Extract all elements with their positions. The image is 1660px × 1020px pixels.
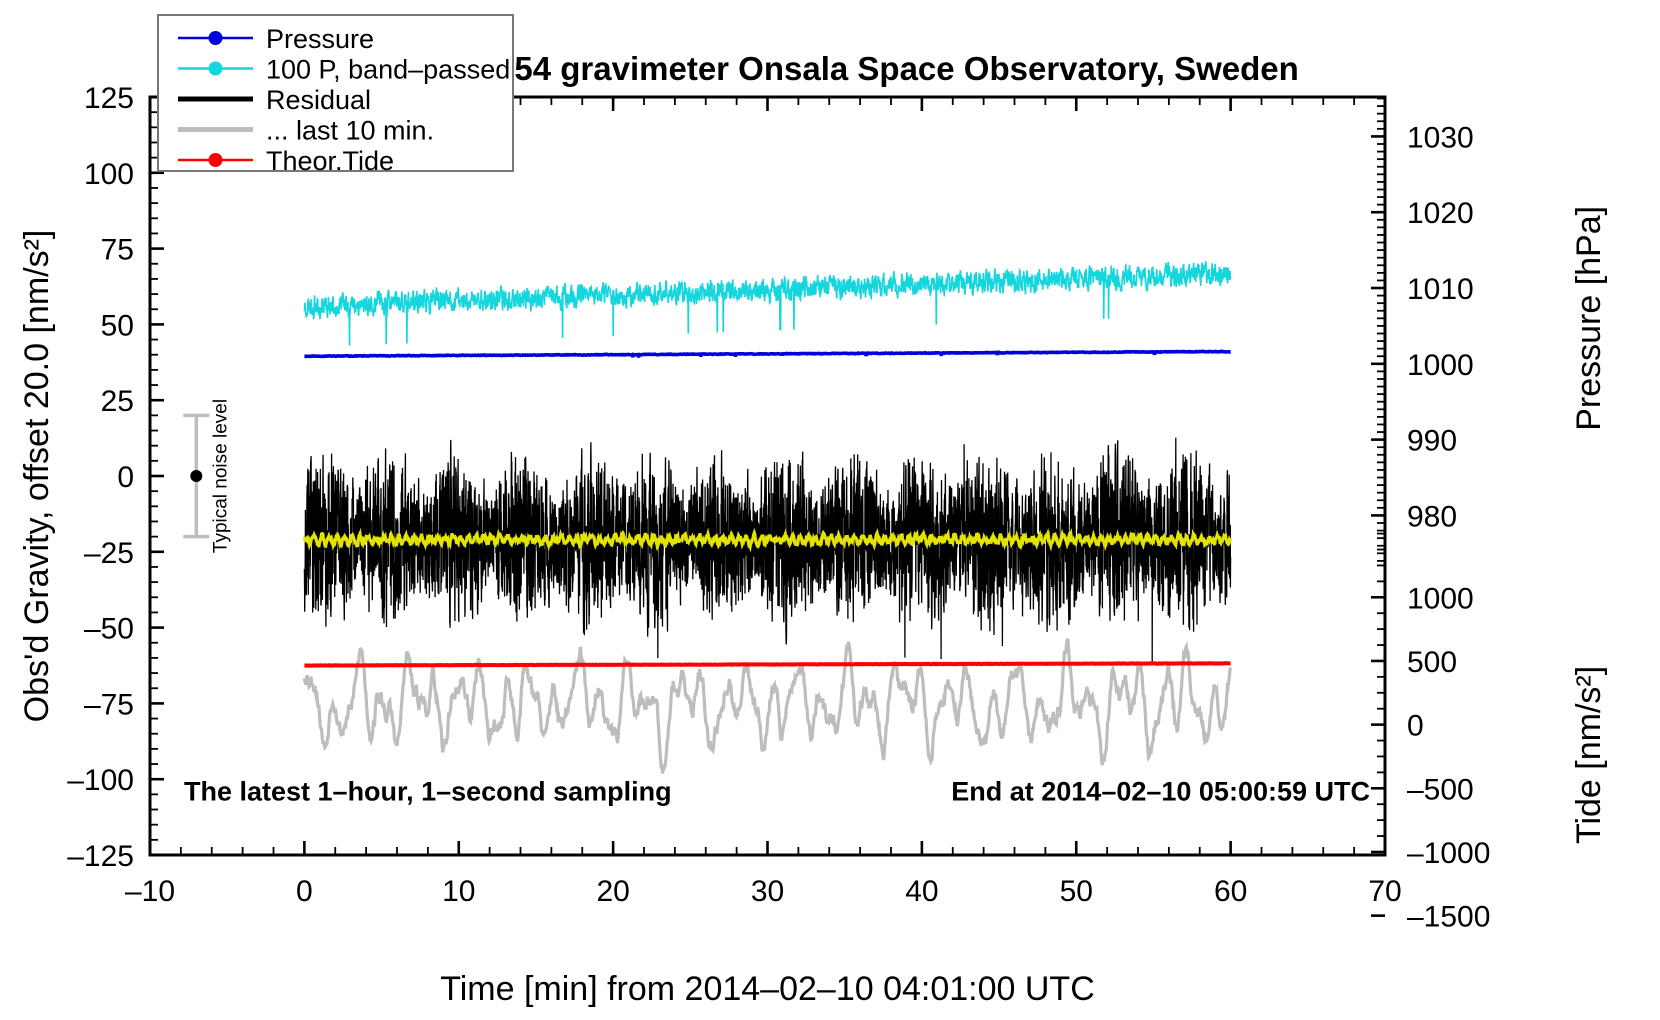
legend-label-1: 100 P, band–passed bbox=[266, 55, 510, 85]
legend-marker-4 bbox=[209, 153, 223, 167]
x-tick-label: 30 bbox=[751, 875, 784, 908]
legend-label-0: Pressure bbox=[266, 24, 374, 54]
tide-tick-label: –1000 bbox=[1407, 837, 1490, 870]
noise-level-label: Typical noise level bbox=[210, 399, 231, 553]
legend-label-3: ... last 10 min. bbox=[266, 116, 434, 146]
series-tide-path bbox=[304, 663, 1230, 666]
chart-title: SCG_054 gravimeter Onsala Space Observat… bbox=[406, 50, 1299, 87]
x-tick-label: 70 bbox=[1368, 875, 1401, 908]
x-tick-label: –10 bbox=[125, 875, 175, 908]
y-axis-title: Obs'd Gravity, offset 20.0 [nm/s²] bbox=[18, 230, 56, 723]
y-tick-label: 125 bbox=[84, 82, 134, 115]
x-tick-label: 20 bbox=[596, 875, 629, 908]
pressure-axis-title: Pressure [hPa] bbox=[1570, 206, 1608, 431]
legend-marker-1 bbox=[209, 62, 223, 76]
series-residual-path bbox=[304, 438, 1230, 663]
legend-label-2: Residual bbox=[266, 85, 371, 115]
noise-level-dot bbox=[190, 470, 202, 482]
pressure-tick-label: 980 bbox=[1407, 500, 1457, 533]
pressure-tick-label: 1010 bbox=[1407, 273, 1474, 306]
x-tick-label: 60 bbox=[1214, 875, 1247, 908]
y-tick-label: 50 bbox=[101, 309, 134, 342]
y-tick-label: 75 bbox=[101, 234, 134, 267]
legend-marker-0 bbox=[209, 31, 223, 45]
y-tick-label: –25 bbox=[84, 537, 134, 570]
legend-label-4: Theor.Tide bbox=[266, 146, 394, 176]
x-axis-title: Time [min] from 2014–02–10 04:01:00 UTC bbox=[440, 970, 1095, 1008]
y-tick-label: 100 bbox=[84, 158, 134, 191]
tide-tick-label: 1000 bbox=[1407, 582, 1474, 615]
y-tick-label: –75 bbox=[84, 688, 134, 721]
pressure-tick-label: 1030 bbox=[1407, 121, 1474, 154]
x-tick-label: 40 bbox=[905, 875, 938, 908]
tide-tick-label: 500 bbox=[1407, 646, 1457, 679]
y-tick-label: –125 bbox=[67, 840, 134, 873]
x-tick-label: 50 bbox=[1060, 875, 1093, 908]
pressure-tick-label: 990 bbox=[1407, 425, 1457, 458]
y-tick-label: 0 bbox=[117, 461, 134, 494]
bottom-right-note: End at 2014–02–10 05:00:59 UTC bbox=[951, 776, 1370, 806]
tide-tick-label: 0 bbox=[1407, 710, 1424, 743]
series-last10-path bbox=[304, 639, 1230, 774]
pressure-tick-label: 1020 bbox=[1407, 197, 1474, 230]
bottom-left-note: The latest 1–hour, 1–second sampling bbox=[184, 776, 672, 806]
y-tick-label: 25 bbox=[101, 385, 134, 418]
y-tick-label: –50 bbox=[84, 613, 134, 646]
tide-tick-label: –1500 bbox=[1407, 901, 1490, 934]
tide-axis-title: Tide [nm/s²] bbox=[1570, 666, 1608, 844]
gravimeter-timeseries-plot: –10010203040506070–125–100–75–50–2502550… bbox=[0, 0, 1660, 1020]
x-tick-label: 0 bbox=[296, 875, 313, 908]
series-bandpassed-path bbox=[304, 261, 1230, 345]
series-pressure-path bbox=[304, 351, 1230, 357]
pressure-tick-label: 1000 bbox=[1407, 349, 1474, 382]
tide-tick-label: –500 bbox=[1407, 773, 1474, 806]
x-tick-label: 10 bbox=[442, 875, 475, 908]
chart-canvas: –10010203040506070–125–100–75–50–2502550… bbox=[0, 0, 1660, 1020]
y-tick-label: –100 bbox=[67, 764, 134, 797]
